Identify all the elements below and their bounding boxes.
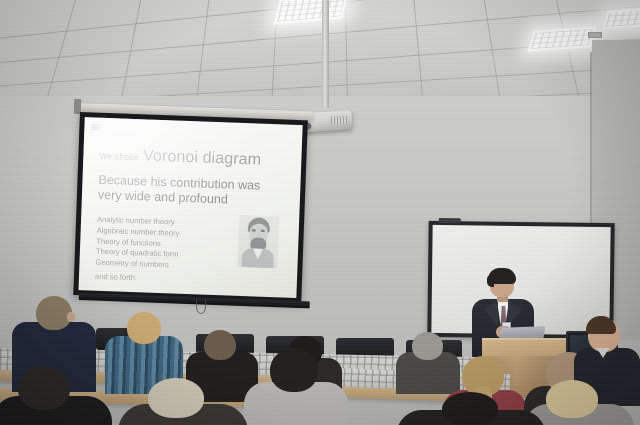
- attendee-head: [546, 380, 598, 418]
- attendee-front-right-dark: [396, 392, 546, 425]
- screen-pull-cord: [196, 299, 206, 314]
- slide-bullet-1: Algebraic number theory: [97, 225, 180, 237]
- portrait-eye-left: [252, 229, 256, 231]
- slide-title-main: Voronoi diagram: [143, 147, 262, 168]
- slide-portrait-image: [237, 215, 279, 268]
- slide-bullet-list: Analytic number theory Algebraic number …: [95, 215, 227, 287]
- slide-subtitle: Because his contribution was very wide a…: [98, 173, 284, 209]
- projector-pole: [322, 0, 329, 112]
- attendee-head: [412, 332, 443, 360]
- attendee-front-center: [118, 378, 248, 425]
- slide-bullet-0: Analytic number theory: [97, 215, 175, 227]
- lecture-hall-photo: We chose Voronoi diagram Because his con…: [0, 0, 640, 425]
- attendee-head: [442, 392, 498, 425]
- slide-bullet-4: Geometry of numbers: [95, 258, 169, 270]
- slide-bullet-2: Theory of functions: [96, 236, 161, 247]
- slide-bullet-3: Theory of quadratic form: [96, 247, 179, 259]
- attendee-head: [270, 348, 318, 392]
- screen-surface: We chose Voronoi diagram Because his con…: [78, 117, 302, 298]
- attendee-head: [18, 366, 70, 410]
- attendee-head: [204, 330, 236, 360]
- ceiling-light-panel-right: [601, 6, 640, 31]
- ceiling: [0, 0, 640, 104]
- slide-logo-icon: [91, 123, 100, 130]
- whiteboard-top-bracket: [439, 218, 461, 223]
- portrait-eye-right: [261, 230, 265, 232]
- slide-closing-line: and so forth: [95, 272, 135, 282]
- attendee-head: [148, 378, 204, 418]
- presenter-hair: [488, 268, 516, 284]
- projector-vent: [331, 115, 348, 124]
- slide-title: We chose Voronoi diagram: [99, 146, 290, 171]
- projection-screen: We chose Voronoi diagram Because his con…: [73, 112, 308, 303]
- attendee-grey-jacket: [244, 348, 348, 425]
- slide-content: We chose Voronoi diagram Because his con…: [78, 117, 302, 298]
- attendee-ear: [67, 312, 75, 322]
- attendee-front-left: [0, 366, 112, 425]
- attendee-head: [127, 312, 161, 344]
- ceiling-vent: [588, 32, 602, 38]
- attendee-hair: [586, 316, 616, 334]
- slide-title-prefix: We chose: [99, 151, 139, 162]
